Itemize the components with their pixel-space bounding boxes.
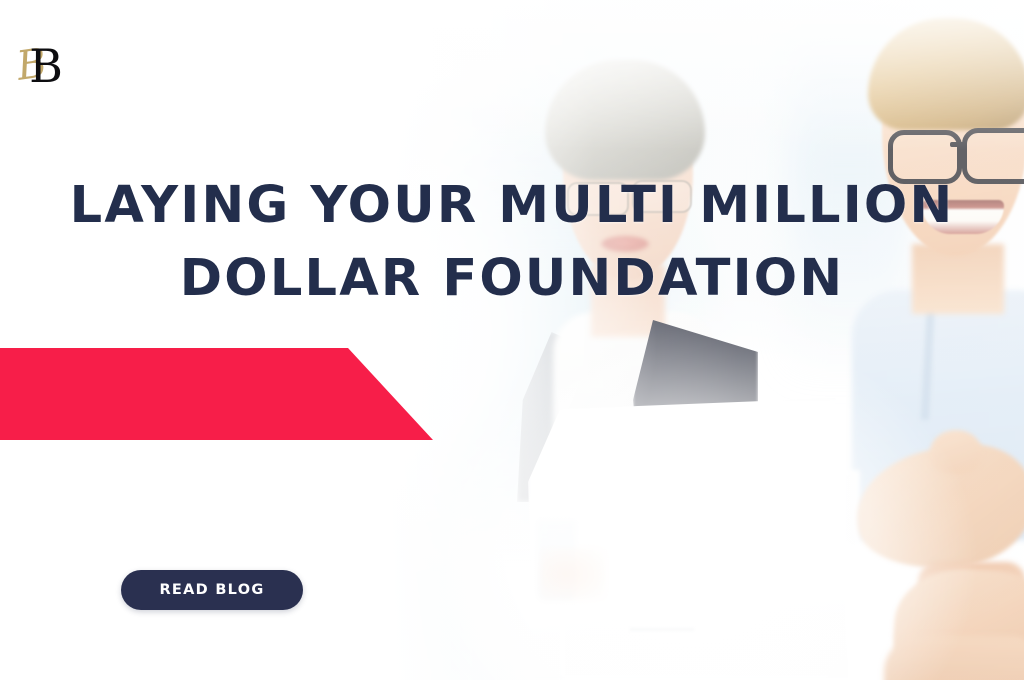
- read-blog-button[interactable]: Read Blog: [121, 570, 303, 610]
- desk-cup-highlight: [540, 548, 606, 600]
- brand-logo[interactable]: B B: [0, 20, 88, 115]
- page-title: Laying Your Multi Million Dollar Foundat…: [0, 170, 1024, 315]
- man-glasses-bridge: [950, 142, 966, 147]
- logo-disc: B B: [9, 33, 79, 103]
- document-text-line: [630, 628, 694, 631]
- man-hair: [868, 18, 1024, 130]
- headline-line-2: Dollar Foundation: [0, 243, 1024, 315]
- hero-banner: B B Laying Your Multi Million Dollar Fou…: [0, 0, 1024, 680]
- logo-letter-b: B: [29, 43, 63, 89]
- foreground-forearm: [884, 636, 1024, 680]
- woman-hair: [545, 60, 705, 180]
- headline-line-1: Laying Your Multi Million: [0, 170, 1024, 242]
- foreground-thumb: [930, 430, 982, 474]
- red-angled-banner: [0, 348, 434, 441]
- red-banner-polygon: [0, 348, 433, 440]
